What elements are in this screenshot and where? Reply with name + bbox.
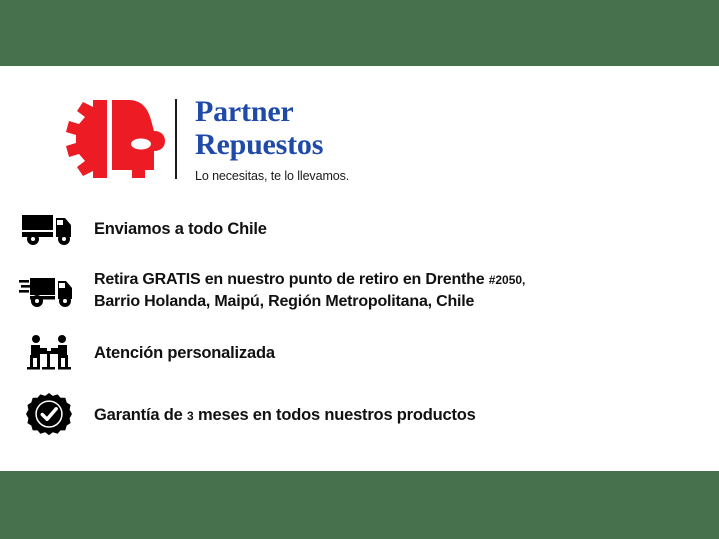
fast-delivery-truck-icon [14, 273, 84, 309]
brand-logo: Partner Repuestos Lo necesitas, te lo ll… [55, 94, 349, 184]
promo-banner: Partner Repuestos Lo necesitas, te lo ll… [0, 0, 719, 539]
top-green-band [0, 0, 719, 66]
brand-name-line-1: Partner [195, 95, 349, 128]
feature-item-pickup: Retira GRATIS en nuestro punto de retiro… [0, 268, 719, 314]
pickup-address-number: #2050, [489, 273, 526, 287]
guarantee-badge-check-icon [14, 392, 84, 438]
feature-label-support: Atención personalizada [94, 342, 275, 364]
feature-item-support: Atención personalizada [0, 330, 719, 376]
brand-tagline: Lo necesitas, te lo llevamos. [195, 168, 349, 184]
feature-list: Enviamos a todo Chile [0, 206, 719, 454]
brand-name-line-2: Repuestos [195, 128, 349, 161]
feature-item-shipping: Enviamos a todo Chile [0, 206, 719, 252]
warranty-text-part-1: Garantía de [94, 406, 187, 424]
content-area: Partner Repuestos Lo necesitas, te lo ll… [0, 66, 719, 471]
gear-car-icon [55, 94, 173, 184]
logo-divider [175, 99, 177, 179]
brand-text: Partner Repuestos Lo necesitas, te lo ll… [195, 95, 349, 184]
warranty-text-part-2: meses en todos nuestros productos [194, 406, 476, 424]
people-at-table-icon [14, 333, 84, 373]
truck-icon [14, 211, 84, 247]
feature-label-shipping: Enviamos a todo Chile [94, 218, 267, 240]
feature-label-pickup: Retira GRATIS en nuestro punto de retiro… [94, 269, 525, 313]
warranty-months-number: 3 [187, 409, 194, 423]
feature-label-warranty: Garantía de 3 meses en todos nuestros pr… [94, 404, 476, 427]
bottom-green-band [0, 471, 719, 539]
feature-item-warranty: Garantía de 3 meses en todos nuestros pr… [0, 392, 719, 438]
pickup-text-part-1: Retira GRATIS en nuestro punto de retiro… [94, 271, 489, 288]
pickup-text-part-2: Barrio Holanda, Maipú, Región Metropolit… [94, 293, 474, 310]
